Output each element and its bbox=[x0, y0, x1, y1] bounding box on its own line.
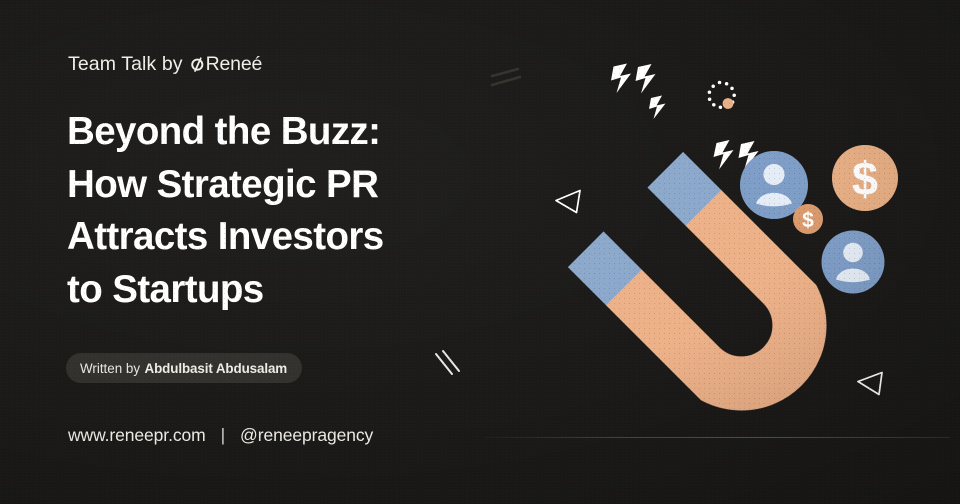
eyebrow: Team Talk by Reneé bbox=[68, 53, 262, 76]
footer-website[interactable]: www.reneepr.com bbox=[68, 425, 206, 446]
dollar-coin-small: $ bbox=[793, 204, 823, 234]
double-slash-marks-overlay bbox=[422, 340, 482, 400]
headline-line-3: Attracts Investors bbox=[67, 211, 487, 264]
spark-bolt-icon bbox=[636, 64, 656, 94]
headline-line-4: to Startups bbox=[67, 264, 487, 317]
brand-lockup: Reneé bbox=[190, 53, 262, 76]
dollar-coin-large: $ bbox=[832, 145, 898, 211]
author-byline-badge: Written by Abdulbasit Abdusalam bbox=[66, 353, 302, 383]
triangle-outline-left bbox=[556, 191, 580, 213]
spark-bolt-icon bbox=[611, 64, 631, 94]
svg-text:$: $ bbox=[802, 209, 814, 232]
illustration-panel: $ $ bbox=[470, 0, 960, 504]
footer-contact: www.reneepr.com | @reneepragency bbox=[68, 425, 373, 446]
footer-separator: | bbox=[221, 425, 225, 446]
dotted-circle-accent bbox=[708, 81, 736, 109]
footer-social-handle[interactable]: @reneepragency bbox=[240, 425, 373, 446]
page-title: Beyond the Buzz: How Strategic PR Attrac… bbox=[67, 106, 487, 317]
byline-author-name: Abdulbasit Abdusalam bbox=[145, 361, 288, 376]
horizontal-baseline bbox=[484, 437, 950, 438]
triangle-outline-bottom-right bbox=[858, 373, 882, 395]
headline-line-2: How Strategic PR bbox=[67, 159, 487, 212]
headline-line-1: Beyond the Buzz: bbox=[67, 106, 487, 159]
promo-card: Team Talk by Reneé Beyond the Buzz: How … bbox=[0, 0, 960, 504]
eyebrow-prefix: Team Talk by bbox=[68, 53, 183, 76]
investor-avatar-medium bbox=[822, 231, 885, 294]
magnet-illustration: $ $ bbox=[470, 0, 960, 504]
spark-bolt-icon bbox=[649, 96, 666, 120]
byline-prefix: Written by bbox=[80, 361, 140, 376]
brand-name: Reneé bbox=[206, 53, 262, 76]
magnet-spark-group-upper bbox=[611, 64, 666, 120]
accent-dot-icon bbox=[723, 98, 734, 109]
svg-text:$: $ bbox=[852, 152, 878, 205]
faint-double-line-top bbox=[492, 69, 520, 85]
text-column: Team Talk by Reneé Beyond the Buzz: How … bbox=[68, 0, 488, 504]
